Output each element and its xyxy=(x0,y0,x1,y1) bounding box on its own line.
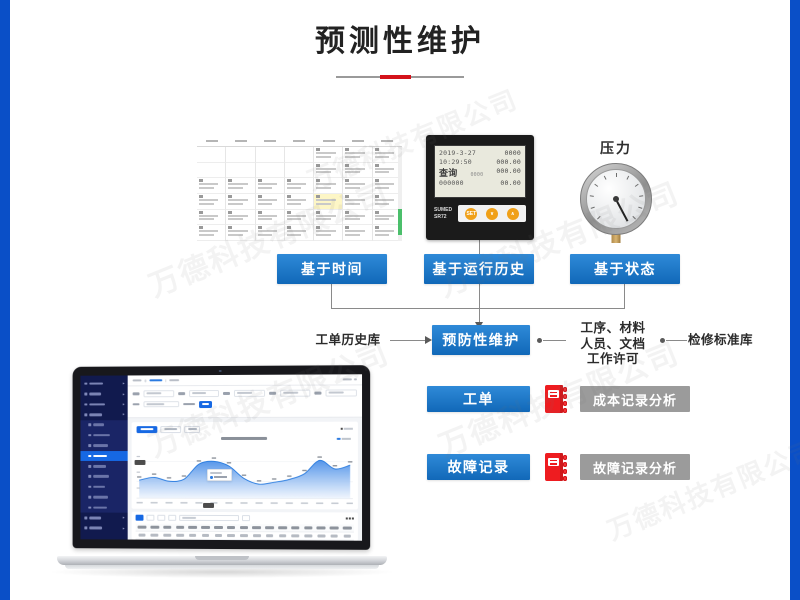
watermark-text: 万德科技有限公司 xyxy=(601,429,800,547)
filter-search-button[interactable] xyxy=(199,401,212,408)
sidebar-item-label xyxy=(93,496,108,499)
sidebar-item-label xyxy=(89,393,101,396)
sidebar-item-label xyxy=(93,434,110,437)
calendar-day-cell[interactable] xyxy=(256,178,285,194)
table-column-header[interactable] xyxy=(174,524,187,532)
sidebar-item-label xyxy=(89,382,103,385)
sidebar-item-7[interactable] xyxy=(80,451,127,461)
breadcrumb-separator xyxy=(144,379,146,382)
filter-label xyxy=(133,403,140,406)
chart-x-tick-label xyxy=(331,502,338,503)
meter-brand-line1: SUMED xyxy=(434,207,454,213)
chart-point-label xyxy=(348,461,353,462)
calendar-day-cell[interactable] xyxy=(197,147,226,163)
title-divider-accent xyxy=(380,75,411,79)
chart-point-label xyxy=(242,474,247,475)
laptop-base xyxy=(57,556,387,565)
chart-point-label xyxy=(227,462,231,463)
laptop-lid xyxy=(73,365,371,550)
calendar-day-cell[interactable] xyxy=(256,194,285,210)
right-edge-bar xyxy=(790,0,800,600)
table-column-header[interactable] xyxy=(315,524,328,532)
chart-x-tick-label xyxy=(286,502,293,503)
gauge-tick xyxy=(591,207,595,209)
page-title: 预测性维护 xyxy=(0,24,800,60)
meter-lcd-screen: 2019-3-27 0000 10:29:50 000.00 查询 0000 0… xyxy=(434,145,526,198)
chart-title xyxy=(137,437,353,440)
sidebar-item-icon xyxy=(84,527,87,530)
calendar-day-cell[interactable] xyxy=(343,147,372,163)
result-box-fault-analysis[interactable]: 故障记录分析 xyxy=(580,454,690,480)
calendar-day-cell[interactable] xyxy=(285,147,314,163)
sidebar-item-0[interactable] xyxy=(80,378,127,389)
laptop-screen xyxy=(80,374,362,540)
sidebar-item-icon xyxy=(84,393,87,396)
gauge-tick xyxy=(597,216,601,220)
sidebar-item-5[interactable] xyxy=(80,430,127,440)
pressure-gauge-block: 压力 xyxy=(556,138,676,246)
title-divider xyxy=(336,76,464,78)
table-column-header[interactable] xyxy=(136,524,149,532)
pressure-gauge-label: 压力 xyxy=(556,138,676,158)
calendar-day-cell[interactable] xyxy=(226,194,255,210)
calendar-day-cell[interactable] xyxy=(314,194,343,210)
table-more-menu[interactable] xyxy=(345,517,353,519)
chart-point-label xyxy=(257,480,262,481)
sidebar-item-icon xyxy=(88,486,91,489)
calendar-day-cell[interactable] xyxy=(343,225,372,241)
dashboard-data-table xyxy=(136,524,354,541)
table-cell xyxy=(302,532,315,540)
breadcrumb-item-module[interactable] xyxy=(149,379,162,382)
lcd-date: 2019-3-27 xyxy=(439,149,476,158)
dashboard-filter-panel xyxy=(128,385,362,417)
chart-x-tick-label xyxy=(180,502,187,503)
lcd-value-1: 0000 xyxy=(505,149,521,158)
table-column-button[interactable] xyxy=(157,515,165,521)
chart-plot-area xyxy=(137,442,353,508)
filter-select-3[interactable] xyxy=(234,390,265,397)
chart-point-label xyxy=(317,456,322,457)
gauge-tick xyxy=(604,176,607,180)
sidebar-item-label xyxy=(93,444,108,447)
calendar-day-cell[interactable] xyxy=(314,163,343,179)
sidebar-item-icon xyxy=(88,496,91,499)
filter-select-2[interactable] xyxy=(189,390,219,397)
table-export-button[interactable] xyxy=(146,515,154,521)
calendar-day-cell[interactable] xyxy=(197,178,226,194)
x-axis-marker-tag xyxy=(203,503,214,508)
sidebar-item-icon xyxy=(88,424,91,427)
lcd-value-3a: 0000 xyxy=(470,172,483,179)
connector-time-drop xyxy=(331,284,332,309)
calendar-day-cell[interactable] xyxy=(256,147,285,163)
table-column-header[interactable] xyxy=(186,524,199,532)
tab-trend[interactable] xyxy=(137,426,158,434)
calendar-header-cell xyxy=(256,136,285,147)
sidebar-item-icon xyxy=(88,444,91,447)
table-print-button[interactable] xyxy=(168,515,176,521)
sidebar-item-icon xyxy=(88,506,91,509)
meter-down-button[interactable]: ∨ xyxy=(486,208,498,220)
lcd-value-4: 00.00 xyxy=(500,179,521,188)
table-column-header[interactable] xyxy=(289,524,302,532)
calendar-header-cell xyxy=(197,136,226,147)
calendar-day-cell[interactable] xyxy=(285,178,314,194)
sidebar-item-2[interactable] xyxy=(80,399,127,409)
label-work-order-history: 工单历史库 xyxy=(310,333,386,349)
notebook-icon-cost xyxy=(545,385,567,413)
chart-x-tick-label xyxy=(240,502,247,503)
table-toolbar xyxy=(136,515,354,522)
sidebar-item-14[interactable] xyxy=(80,523,127,534)
chart-x-tick-label xyxy=(195,502,202,503)
poster-root: 预测性维护 2019-3-27 0000 10:29:50 000.00 查询 … xyxy=(0,0,800,600)
dashboard-sidebar xyxy=(80,375,127,539)
calendar-header-cell xyxy=(343,136,372,147)
dashboard-table-card xyxy=(132,512,358,541)
sidebar-item-1[interactable] xyxy=(80,389,127,400)
calendar-day-cell[interactable] xyxy=(256,163,285,179)
connector-resources-to-standard xyxy=(666,340,687,341)
label-resources-line3: 工作许可 xyxy=(568,352,658,368)
table-cell xyxy=(328,532,341,540)
sidebar-item-4[interactable] xyxy=(80,420,127,430)
table-cell xyxy=(237,532,250,540)
sidebar-item-10[interactable] xyxy=(80,482,127,492)
notebook-label xyxy=(548,458,559,466)
breadcrumb-item-home[interactable] xyxy=(133,379,142,382)
calendar-day-cell[interactable] xyxy=(226,178,255,194)
calendar-day-cell[interactable] xyxy=(285,163,314,179)
meter-brand: SUMED SR72 xyxy=(434,207,454,220)
gauge-tick xyxy=(616,173,617,177)
connector-condition-drop xyxy=(624,284,625,309)
table-column-header[interactable] xyxy=(341,524,354,532)
gauge-tick xyxy=(639,195,643,197)
chart-point-label xyxy=(272,478,277,479)
connector-history-to-preventive xyxy=(390,340,427,341)
table-column-header[interactable] xyxy=(237,524,250,532)
webcam-icon xyxy=(219,369,222,372)
calendar-day-cell[interactable] xyxy=(314,210,343,226)
filter-select-5[interactable] xyxy=(326,389,357,396)
calendar-header-cell xyxy=(314,136,343,147)
label-resources-line2: 人员、文档 xyxy=(568,337,658,353)
flow-box-fault-record[interactable]: 故障记录 xyxy=(427,454,530,480)
calendar-day-cell[interactable] xyxy=(314,225,343,241)
gauge-hub xyxy=(613,196,619,202)
calendar-day-cell[interactable] xyxy=(256,225,285,241)
table-column-header[interactable] xyxy=(212,524,225,532)
sidebar-item-label xyxy=(93,455,107,458)
table-refresh-button[interactable] xyxy=(136,515,144,521)
calendar-header-cell xyxy=(285,136,314,147)
sidebar-item-8[interactable] xyxy=(80,461,127,471)
chart-x-tick-label xyxy=(271,502,278,503)
chart-x-tick-label xyxy=(165,502,172,503)
chart-y-tick-label xyxy=(137,487,141,488)
lcd-counter: 000000 xyxy=(439,179,464,188)
chart-x-tick-label xyxy=(151,502,158,503)
label-resources-line1: 工序、材料 xyxy=(568,321,658,337)
filter-label xyxy=(133,392,140,395)
sidebar-item-icon xyxy=(84,516,87,519)
calendar-day-cell[interactable] xyxy=(256,210,285,226)
breadcrumb-separator xyxy=(165,379,167,382)
calendar-day-cell[interactable] xyxy=(343,163,372,179)
tab-statistics[interactable] xyxy=(160,426,181,434)
calendar-day-cell[interactable] xyxy=(197,163,226,179)
chart-x-tick-label xyxy=(137,502,143,503)
y-axis-marker-tag xyxy=(135,460,146,465)
result-box-cost-analysis[interactable]: 成本记录分析 xyxy=(580,386,690,412)
filter-select-4[interactable] xyxy=(280,390,311,397)
calendar-scrollbar[interactable] xyxy=(398,147,402,241)
filter-select-1[interactable] xyxy=(143,390,173,397)
calendar-day-cell[interactable] xyxy=(314,178,343,194)
chart-x-tick-label xyxy=(316,502,323,503)
sidebar-item-label xyxy=(93,486,105,489)
calendar-day-cell[interactable] xyxy=(285,225,314,241)
chevron-down-icon[interactable] xyxy=(354,378,357,381)
filter-label xyxy=(183,403,195,406)
chart-y-tick-label xyxy=(137,471,141,472)
filter-row-2 xyxy=(133,400,357,408)
notebook-body xyxy=(545,385,563,413)
sidebar-item-label xyxy=(93,465,106,468)
label-resources: 工序、材料 人员、文档 工作许可 xyxy=(568,321,658,368)
sidebar-item-label xyxy=(89,516,101,519)
table-cell xyxy=(289,532,302,540)
arrow-history-to-preventive xyxy=(425,336,432,344)
dashboard-topbar-right xyxy=(343,378,357,381)
connector-bus xyxy=(331,308,625,309)
sidebar-item-label xyxy=(89,527,102,530)
search-icon[interactable] xyxy=(242,515,250,521)
meter-up-button[interactable]: ∧ xyxy=(507,208,519,220)
table-cell xyxy=(199,531,212,539)
chart-point-label xyxy=(182,475,186,476)
gauge-tick xyxy=(638,207,642,209)
sidebar-item-label xyxy=(89,413,102,416)
calendar-day-cell[interactable] xyxy=(197,194,226,210)
sidebar-item-icon xyxy=(88,465,91,468)
sidebar-item-label xyxy=(93,475,109,478)
calendar-day-cell[interactable] xyxy=(285,194,314,210)
filter-row-1 xyxy=(133,389,357,396)
table-cell xyxy=(136,531,149,539)
table-column-header[interactable] xyxy=(263,524,276,532)
dashboard-chart-card xyxy=(132,421,358,509)
lcd-time: 10:29:50 xyxy=(439,158,472,167)
chevron-right-icon xyxy=(123,383,125,385)
sidebar-item-3[interactable] xyxy=(80,409,127,419)
chart-point-label xyxy=(197,460,201,461)
sidebar-item-icon xyxy=(84,403,87,406)
calendar-day-cell[interactable] xyxy=(226,210,255,226)
sidebar-item-icon xyxy=(88,475,91,478)
lcd-mode-label: 查询 xyxy=(439,167,457,179)
pressure-gauge-icon xyxy=(578,163,654,243)
filter-date-range[interactable] xyxy=(143,401,179,408)
dashboard-main xyxy=(128,374,362,540)
chart-tab-row xyxy=(137,425,353,433)
chart-point-label xyxy=(137,476,141,477)
calendar-day-cell[interactable] xyxy=(314,147,343,163)
chart-x-tick-label xyxy=(301,502,308,503)
calendar-day-cell[interactable] xyxy=(343,178,372,194)
chart-x-tick-label xyxy=(255,502,262,503)
table-column-header[interactable] xyxy=(302,524,315,532)
table-cell xyxy=(148,531,161,539)
tab-detail[interactable] xyxy=(184,426,200,434)
chart-point-label xyxy=(167,477,171,478)
gauge-tick xyxy=(594,184,598,187)
gauge-tick xyxy=(632,216,636,220)
calendar-header-cell xyxy=(373,136,402,147)
meter-control-panel: SUMED SR72 SET ∨ ∧ xyxy=(434,205,526,222)
chart-x-tick-label xyxy=(346,502,352,503)
chart-point-label xyxy=(302,470,307,471)
chevron-right-icon xyxy=(123,414,125,416)
chart-point-label xyxy=(212,457,216,458)
sidebar-item-label xyxy=(93,506,107,509)
laptop-foot xyxy=(65,565,379,569)
sidebar-item-12[interactable] xyxy=(80,502,127,512)
table-column-header[interactable] xyxy=(328,524,341,532)
user-avatar[interactable] xyxy=(343,378,352,381)
gauge-tick xyxy=(590,195,594,197)
filter-label xyxy=(178,392,185,395)
chart-y-tick-label xyxy=(137,456,141,457)
page-title-block: 预测性维护 xyxy=(0,24,800,78)
connector-preventive-to-resources xyxy=(543,340,566,341)
gauge-needle xyxy=(615,199,628,222)
gauge-tick xyxy=(635,184,639,187)
flow-box-condition-based[interactable]: 基于状态 xyxy=(570,254,680,284)
sidebar-item-icon xyxy=(84,383,87,386)
table-column-header[interactable] xyxy=(199,524,212,532)
table-cell xyxy=(276,532,289,540)
meter-brand-line2: SR72 xyxy=(434,214,454,220)
laptop-mockup xyxy=(57,366,387,571)
sidebar-item-icon xyxy=(84,413,87,416)
junction-dot-right-of-preventive xyxy=(537,338,542,343)
table-cell xyxy=(161,531,174,539)
notebook-rings xyxy=(563,387,568,415)
table-column-header[interactable] xyxy=(250,524,263,532)
chart-point-label xyxy=(152,473,156,474)
table-column-header[interactable] xyxy=(148,524,161,532)
sidebar-item-11[interactable] xyxy=(80,492,127,502)
calendar-day-cell[interactable] xyxy=(226,225,255,241)
notebook-label xyxy=(548,390,559,398)
calendar-day-cell[interactable] xyxy=(197,225,226,241)
left-edge-bar xyxy=(0,0,10,600)
sidebar-item-icon xyxy=(88,455,91,458)
sidebar-item-13[interactable] xyxy=(80,513,127,523)
laptop-hinge-notch xyxy=(195,556,249,560)
table-column-header[interactable] xyxy=(161,524,174,532)
junction-dot-right-of-resources xyxy=(660,338,665,343)
chart-point-label xyxy=(287,475,292,476)
flow-box-work-order[interactable]: 工单 xyxy=(427,386,530,412)
lcd-value-3: 000.00 xyxy=(496,167,521,179)
sidebar-item-icon xyxy=(88,434,91,437)
chart-point-label xyxy=(333,465,338,466)
connector-meter-to-history xyxy=(479,240,480,254)
sidebar-item-9[interactable] xyxy=(80,471,127,481)
table-cell xyxy=(174,531,187,539)
calendar-day-cell[interactable] xyxy=(343,210,372,226)
table-search-input[interactable] xyxy=(179,515,239,521)
table-row[interactable] xyxy=(136,531,354,540)
meter-keypad: SET ∨ ∧ xyxy=(458,205,526,222)
calendar-day-cell[interactable] xyxy=(226,147,255,163)
table-cell xyxy=(225,532,238,540)
breadcrumb-item-current[interactable] xyxy=(169,379,179,382)
table-cell xyxy=(341,532,354,540)
table-column-header[interactable] xyxy=(225,524,238,532)
calendar-day-cell[interactable] xyxy=(285,210,314,226)
filter-label xyxy=(223,392,230,395)
notebook-icon-fault xyxy=(545,453,567,481)
calendar-day-cell[interactable] xyxy=(197,210,226,226)
lcd-value-2: 000.00 xyxy=(496,158,521,167)
flow-box-preventive-maintenance[interactable]: 预防性维护 xyxy=(432,325,530,355)
chart-x-tick-label xyxy=(225,502,232,503)
sidebar-item-label xyxy=(89,403,105,406)
chart-tooltip xyxy=(207,469,232,481)
table-column-header[interactable] xyxy=(276,524,289,532)
flow-box-time-based[interactable]: 基于时间 xyxy=(277,254,387,284)
notebook-rings xyxy=(563,455,568,483)
chevron-right-icon xyxy=(123,403,125,405)
sidebar-item-6[interactable] xyxy=(80,440,127,450)
sidebar-item-label xyxy=(93,424,104,427)
label-maintenance-standard-library: 检修标准库 xyxy=(688,333,766,349)
chart-more-menu[interactable] xyxy=(340,428,353,430)
flow-box-history-based[interactable]: 基于运行历史 xyxy=(424,254,534,284)
table-cell xyxy=(212,531,225,539)
gauge-tick xyxy=(626,176,629,180)
digital-meter-device: 2019-3-27 0000 10:29:50 000.00 查询 0000 0… xyxy=(426,135,534,240)
area-chart-svg xyxy=(137,442,353,508)
notebook-body xyxy=(545,453,563,481)
table-cell xyxy=(186,531,199,539)
meter-set-button[interactable]: SET xyxy=(465,208,477,220)
chart-legend[interactable] xyxy=(336,438,351,440)
filter-label xyxy=(269,392,276,395)
chevron-right-icon xyxy=(123,517,125,519)
calendar-day-cell[interactable] xyxy=(343,194,372,210)
filter-label xyxy=(315,392,322,395)
table-cell xyxy=(263,532,276,540)
calendar-header-cell xyxy=(226,136,255,147)
table-cell xyxy=(250,532,263,540)
chevron-right-icon xyxy=(123,393,125,395)
gauge-face xyxy=(586,169,646,229)
table-cell xyxy=(315,532,328,540)
work-order-calendar-image xyxy=(197,136,402,241)
chevron-right-icon xyxy=(123,527,125,529)
calendar-day-cell[interactable] xyxy=(226,163,255,179)
